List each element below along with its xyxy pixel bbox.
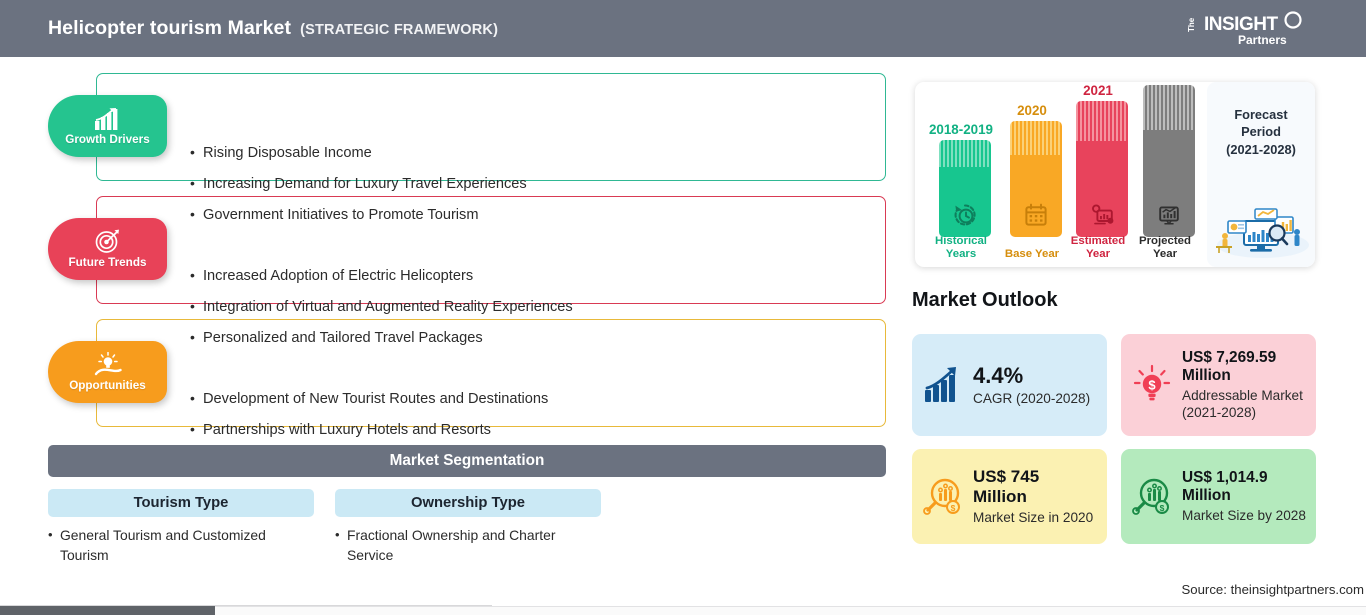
market-segmentation-title: Market Segmentation <box>390 452 545 470</box>
list-item: Increasing Demand for Luxury Travel Expe… <box>190 177 890 192</box>
timeline-bar <box>1076 101 1128 237</box>
svg-text:Partners: Partners <box>1238 33 1287 47</box>
svg-text:INSIGHT: INSIGHT <box>1204 14 1278 35</box>
horizontal-scrollbar-track[interactable] <box>0 606 1366 615</box>
dashboard-illustration <box>1211 203 1311 259</box>
horizontal-scrollbar-thumb[interactable] <box>0 606 215 615</box>
outlook-card-label: Market Size by 2028 <box>1182 507 1306 524</box>
outlook-card-market-size-2020[interactable]: $ US$ 745 Million Market Size in 2020 <box>912 449 1107 544</box>
right-column: 2018-2019 <box>910 57 1366 615</box>
timeline-bar-fill <box>1010 155 1062 237</box>
forecast-line-2: Period <box>1226 123 1296 140</box>
lightbulb-dollar-icon: $ <box>1131 364 1173 406</box>
left-column: Growth Drivers Future Trends <box>0 57 910 615</box>
list-item: Personalized and Tailored Travel Package… <box>190 331 890 346</box>
timeline-year: 2020 <box>996 103 1068 118</box>
timeline-caption: Historical Years <box>925 235 997 261</box>
timeline-caption: Estimated Year <box>1062 235 1134 261</box>
badge-growth-drivers[interactable]: Growth Drivers <box>48 95 167 157</box>
infographic-page: Helicopter tourism Market (STRATEGIC FRA… <box>0 0 1366 615</box>
segmentation-column-tourism-type: Tourism Type General Tourism and Customi… <box>48 489 314 566</box>
segmentation-pill[interactable]: Tourism Type <box>48 489 314 517</box>
list-item: Development of New Tourist Routes and De… <box>190 392 890 407</box>
list-item: Rising Disposable Income <box>190 146 890 161</box>
magnifier-chart-icon: $ <box>1131 476 1173 518</box>
outlook-card-value: US$ 7,269.59 Million <box>1182 349 1276 384</box>
outlook-card-value: US$ 745 Million <box>973 467 1039 506</box>
list-item: Fractional Ownership and Charter Service <box>335 526 601 566</box>
timeline-bar-fill <box>1143 130 1195 237</box>
outlook-card-text: US$ 745 Million Market Size in 2020 <box>973 467 1097 526</box>
page-header: Helicopter tourism Market (STRATEGIC FRA… <box>0 0 1366 57</box>
timeline-year: 2018-2019 <box>925 122 997 137</box>
page-title: Helicopter tourism Market <box>48 17 291 40</box>
timeline-bar <box>1143 85 1195 237</box>
bar-chart-arrow-up-icon <box>922 364 964 406</box>
outlook-card-text: US$ 7,269.59 Million Addressable Market … <box>1182 349 1306 422</box>
badge-future-trends[interactable]: Future Trends <box>48 218 167 280</box>
bar-chart-arrow-up-icon <box>93 106 123 131</box>
bullet-list-future-trends: Increased Adoption of Electric Helicopte… <box>190 269 890 362</box>
timeline-card: 2018-2019 <box>915 82 1315 267</box>
timeline-bar-stripes <box>1010 121 1062 155</box>
market-outlook-title: Market Outlook <box>912 289 1058 312</box>
outlook-card-value: 4.4% <box>973 363 1023 388</box>
timeline-caption: Projected Year <box>1129 235 1201 261</box>
timeline-item-base-year[interactable]: 2020 <box>996 82 1068 267</box>
timeline-year: 2021 <box>1062 83 1134 98</box>
analytics-gear-icon <box>1089 202 1115 228</box>
timeline-bar-stripes <box>1143 85 1195 130</box>
segmentation-pill[interactable]: Ownership Type <box>335 489 601 517</box>
outlook-card-text: 4.4% CAGR (2020-2028) <box>973 363 1097 408</box>
list-item: Increased Adoption of Electric Helicopte… <box>190 269 890 284</box>
timeline-bar-fill <box>939 167 991 237</box>
forecast-period-panel: Forecast Period (2021-2028) <box>1207 82 1315 267</box>
list-item: Integration of Virtual and Augmented Rea… <box>190 300 890 315</box>
forecast-period-text: Forecast Period (2021-2028) <box>1226 106 1296 158</box>
outlook-card-text: US$ 1,014.9 Million Market Size by 2028 <box>1182 469 1306 524</box>
page-subtitle: (STRATEGIC FRAMEWORK) <box>300 22 498 38</box>
list-item: Partnerships with Luxury Hotels and Reso… <box>190 423 890 438</box>
timeline-bars: 2018-2019 <box>915 82 1207 267</box>
market-segmentation-header: Market Segmentation <box>48 445 886 477</box>
timeline-bar-stripes <box>939 140 991 167</box>
segmentation-column-title: Ownership Type <box>411 495 525 511</box>
timeline-bar-fill <box>1076 141 1128 237</box>
timeline-item-projected-year[interactable]: 2028 <box>1129 82 1201 267</box>
insight-partners-logo: The INSIGHT Partners <box>1186 8 1306 50</box>
list-item: Government Initiatives to Promote Touris… <box>190 208 890 223</box>
forecast-line-3: (2021-2028) <box>1226 141 1296 158</box>
badge-label: Growth Drivers <box>65 133 149 146</box>
svg-text:$: $ <box>1148 377 1156 392</box>
projection-chart-icon <box>1156 202 1182 228</box>
svg-text:$: $ <box>951 503 956 513</box>
header-title-group: Helicopter tourism Market (STRATEGIC FRA… <box>48 17 498 40</box>
outlook-card-cagr[interactable]: 4.4% CAGR (2020-2028) <box>912 334 1107 436</box>
outlook-card-addressable-market[interactable]: $ US$ 7,269.59 Million Addressable Marke… <box>1121 334 1316 436</box>
magnifier-chart-icon: $ <box>922 476 964 518</box>
source-attribution: Source: theinsightpartners.com <box>1181 582 1364 597</box>
hand-lightbulb-icon <box>93 352 123 377</box>
badge-label: Future Trends <box>69 256 147 269</box>
svg-text:The: The <box>1187 17 1196 32</box>
timeline-bar-stripes <box>1076 101 1128 141</box>
timeline-bar <box>939 140 991 237</box>
timeline-item-historical-years[interactable]: 2018-2019 <box>925 82 997 267</box>
svg-text:$: $ <box>1160 503 1165 513</box>
forecast-line-1: Forecast <box>1226 106 1296 123</box>
segmentation-column-ownership-type: Ownership Type Fractional Ownership and … <box>335 489 601 566</box>
outlook-card-label: CAGR (2020-2028) <box>973 390 1097 407</box>
timeline-caption: Base Year <box>996 248 1068 261</box>
outlook-card-label: Market Size in 2020 <box>973 509 1097 526</box>
timeline-bar <box>1010 121 1062 237</box>
timeline-item-estimated-year[interactable]: 2021 <box>1062 82 1134 267</box>
calendar-icon <box>1023 202 1049 228</box>
bullet-list-growth-drivers: Rising Disposable Income Increasing Dema… <box>190 146 890 239</box>
outlook-card-label: Addressable Market (2021-2028) <box>1182 387 1306 422</box>
target-dart-icon <box>94 229 122 254</box>
outlook-card-market-size-2028[interactable]: $ US$ 1,014.9 Million Market Size by 202… <box>1121 449 1316 544</box>
badge-opportunities[interactable]: Opportunities <box>48 341 167 403</box>
clock-history-icon <box>952 202 978 228</box>
outlook-card-value: US$ 1,014.9 Million <box>1182 469 1268 504</box>
badge-label: Opportunities <box>69 379 146 392</box>
segmentation-column-title: Tourism Type <box>134 495 229 511</box>
list-item: General Tourism and Customized Tourism <box>48 526 314 566</box>
